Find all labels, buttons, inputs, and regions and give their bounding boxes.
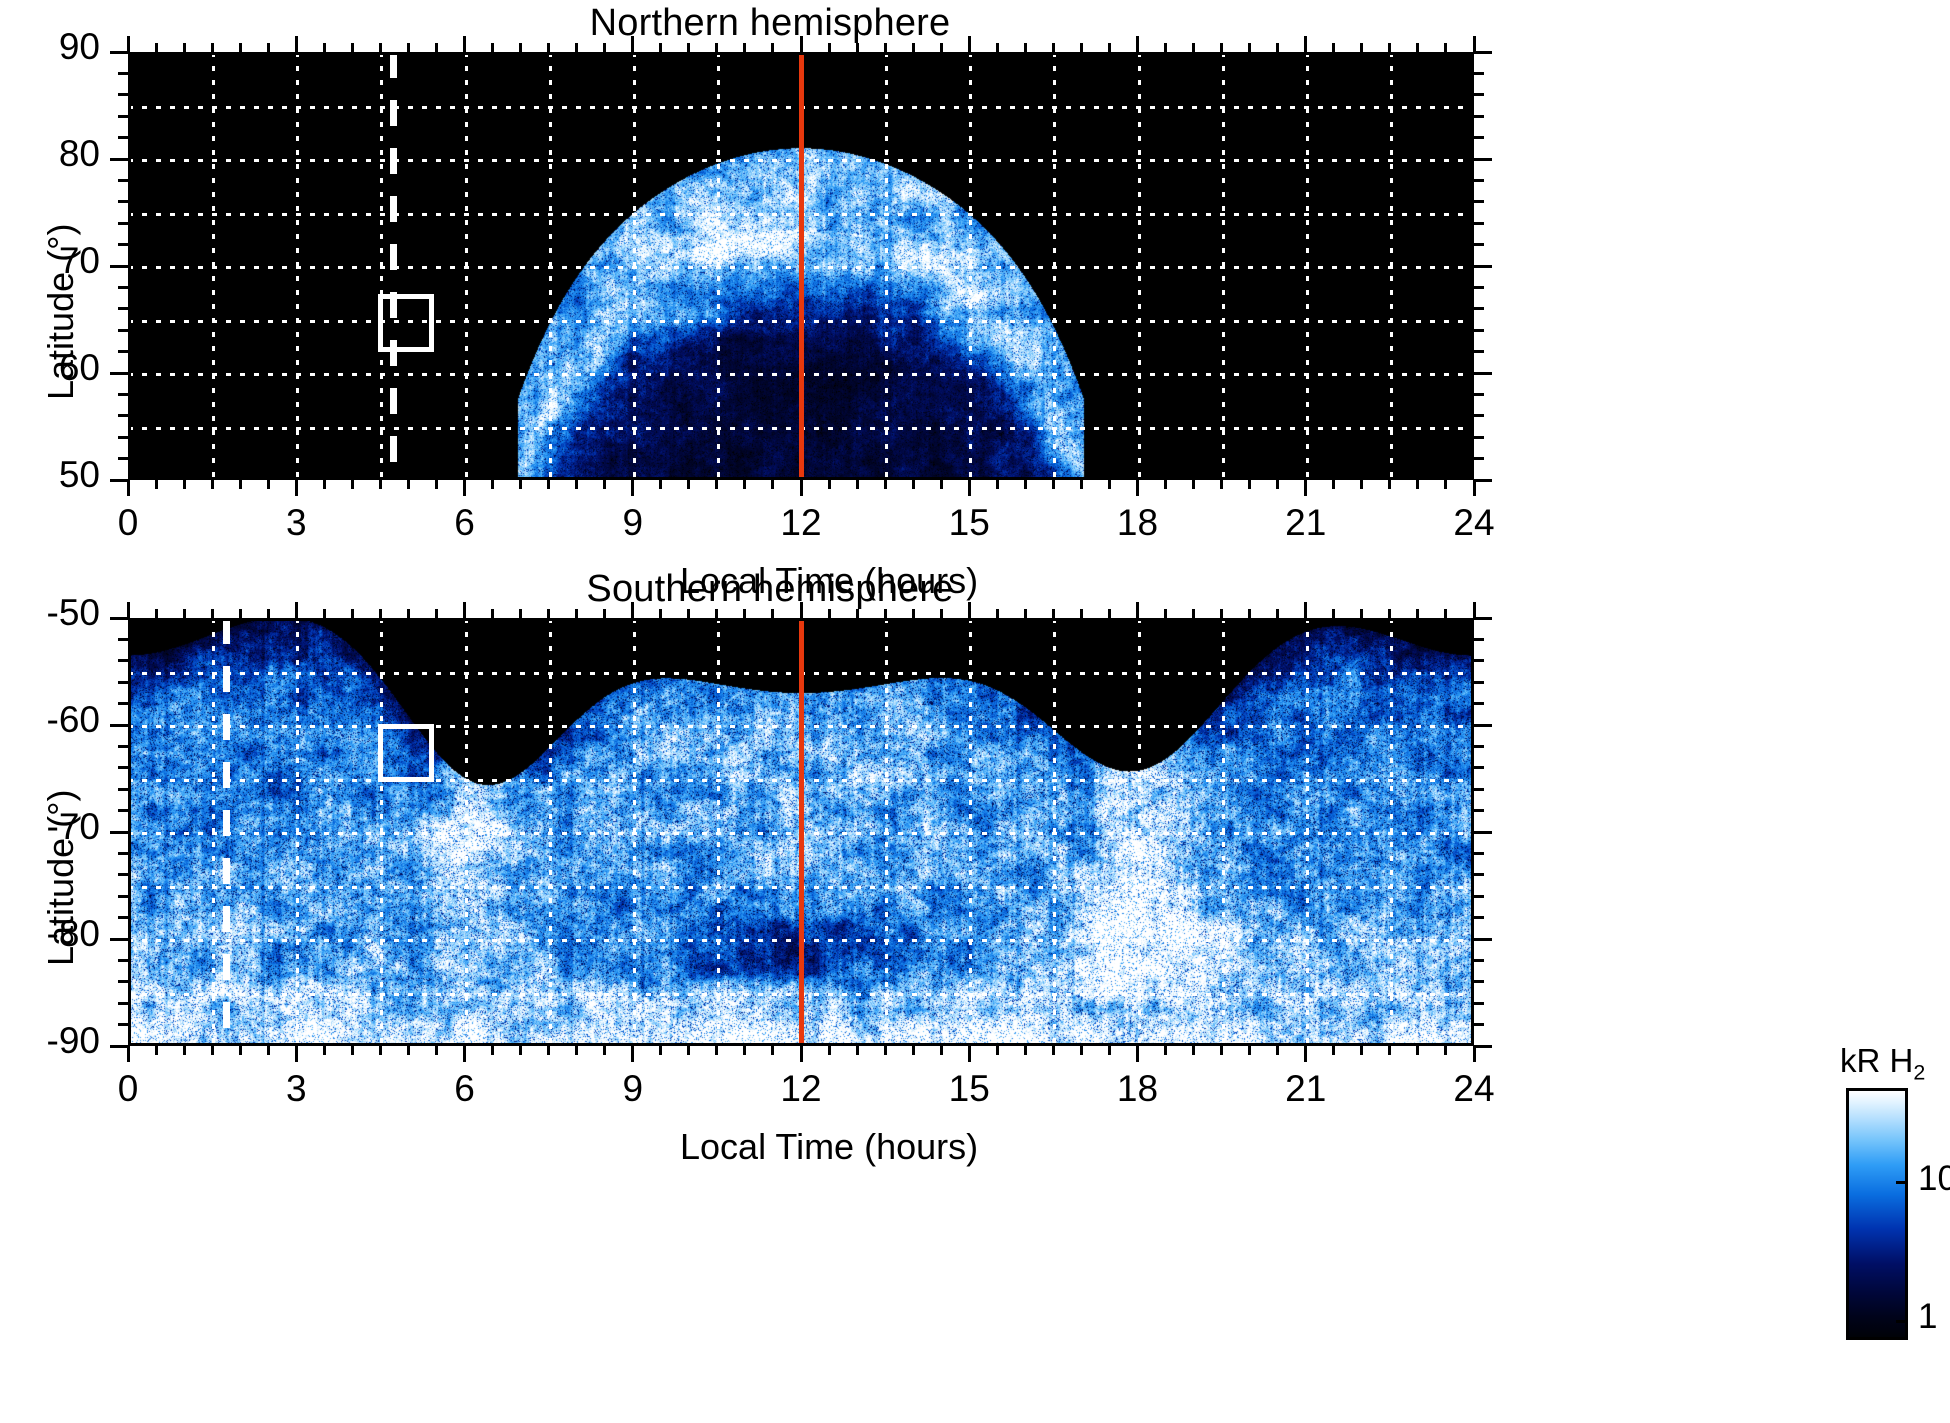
x-tick-label: 15 — [941, 1068, 997, 1110]
y-tick-label: -80 — [0, 913, 100, 955]
x-major-tick — [800, 1046, 803, 1062]
x-major-tick-top — [1136, 602, 1139, 618]
y-major-tick — [110, 372, 128, 375]
x-minor-tick-top — [715, 43, 718, 52]
x-major-tick-top — [1304, 602, 1307, 618]
x-minor-tick-top — [1220, 43, 1223, 52]
x-minor-tick-top — [1332, 43, 1335, 52]
x-minor-tick — [1276, 480, 1279, 489]
x-minor-tick-top — [884, 43, 887, 52]
y-minor-tick — [118, 659, 128, 662]
y-minor-tick-right — [1474, 436, 1484, 439]
y-minor-tick — [118, 200, 128, 203]
y-major-tick-right — [1474, 831, 1492, 834]
y-minor-tick — [118, 350, 128, 353]
y-minor-tick-right — [1474, 809, 1484, 812]
x-minor-tick-top — [267, 43, 270, 52]
y-minor-tick-right — [1474, 852, 1484, 855]
x-minor-tick-top — [155, 609, 158, 618]
y-minor-tick — [118, 1023, 128, 1026]
x-minor-tick-top — [912, 609, 915, 618]
x-minor-tick-top — [996, 609, 999, 618]
x-minor-tick — [351, 1046, 354, 1055]
y-minor-tick — [118, 788, 128, 791]
x-minor-tick-top — [659, 43, 662, 52]
y-minor-tick-right — [1474, 959, 1484, 962]
x-minor-tick — [435, 480, 438, 489]
y-minor-tick — [118, 745, 128, 748]
x-minor-tick-top — [1192, 43, 1195, 52]
x-minor-tick-top — [603, 609, 606, 618]
x-minor-tick-top — [743, 43, 746, 52]
y-minor-tick — [118, 136, 128, 139]
x-minor-tick — [1444, 1046, 1447, 1055]
x-major-tick — [1473, 1046, 1476, 1062]
x-major-tick — [463, 480, 466, 496]
x-major-tick — [127, 1046, 130, 1062]
y-tick-label: 60 — [0, 347, 100, 389]
x-minor-tick-top — [1388, 43, 1391, 52]
x-minor-tick — [575, 480, 578, 489]
y-minor-tick-right — [1474, 788, 1484, 791]
y-major-tick-right — [1474, 265, 1492, 268]
x-minor-tick-top — [1080, 43, 1083, 52]
y-minor-tick — [118, 414, 128, 417]
x-tick-label: 9 — [605, 502, 661, 544]
y-tick-label: -50 — [0, 592, 100, 634]
x-minor-tick — [828, 480, 831, 489]
x-minor-tick-top — [856, 43, 859, 52]
northern-panel-title: Northern hemisphere — [420, 2, 1120, 45]
x-tick-label: 15 — [941, 502, 997, 544]
x-major-tick-top — [295, 36, 298, 52]
x-minor-tick — [183, 1046, 186, 1055]
x-minor-tick-top — [771, 43, 774, 52]
x-minor-tick — [547, 1046, 550, 1055]
y-minor-tick-right — [1474, 329, 1484, 332]
x-minor-tick-top — [547, 609, 550, 618]
x-minor-tick — [856, 1046, 859, 1055]
x-major-tick — [631, 480, 634, 496]
x-minor-tick — [267, 1046, 270, 1055]
y-minor-tick — [118, 959, 128, 962]
x-minor-tick — [1388, 1046, 1391, 1055]
x-minor-tick — [1052, 480, 1055, 489]
x-major-tick-top — [463, 36, 466, 52]
x-minor-tick-top — [1444, 43, 1447, 52]
x-tick-label: 3 — [268, 502, 324, 544]
y-minor-tick-right — [1474, 702, 1484, 705]
x-major-tick — [800, 480, 803, 496]
x-minor-tick — [996, 1046, 999, 1055]
roi-box — [378, 294, 434, 352]
x-minor-tick — [1192, 480, 1195, 489]
y-minor-tick — [118, 809, 128, 812]
x-minor-tick-top — [1416, 43, 1419, 52]
x-minor-tick — [323, 1046, 326, 1055]
x-minor-tick-top — [323, 43, 326, 52]
y-major-tick-right — [1474, 1045, 1492, 1048]
x-minor-tick-top — [856, 609, 859, 618]
x-minor-tick-top — [1024, 609, 1027, 618]
y-minor-tick-right — [1474, 136, 1484, 139]
x-major-tick-top — [968, 602, 971, 618]
colorbar-label-subscript: 2 — [1913, 1061, 1925, 1085]
x-minor-tick — [1164, 1046, 1167, 1055]
colorbar-tick-label: 10 — [1918, 1159, 1950, 1199]
x-minor-tick — [1080, 1046, 1083, 1055]
noon-meridian-line — [799, 52, 804, 480]
x-tick-label: 6 — [437, 1068, 493, 1110]
y-major-tick-right — [1474, 724, 1492, 727]
y-minor-tick-right — [1474, 200, 1484, 203]
y-minor-tick-right — [1474, 393, 1484, 396]
x-minor-tick-top — [940, 609, 943, 618]
x-minor-tick — [379, 1046, 382, 1055]
y-major-tick — [110, 265, 128, 268]
x-minor-tick-top — [715, 609, 718, 618]
x-tick-label: 18 — [1110, 502, 1166, 544]
x-minor-tick — [715, 1046, 718, 1055]
figure-root: Northern hemisphere Local Time (hours) L… — [0, 0, 1950, 1423]
roi-box — [378, 724, 434, 782]
x-minor-tick — [575, 1046, 578, 1055]
x-minor-tick — [1444, 480, 1447, 489]
x-minor-tick — [996, 480, 999, 489]
x-minor-tick — [407, 480, 410, 489]
x-minor-tick — [1248, 1046, 1251, 1055]
y-minor-tick-right — [1474, 681, 1484, 684]
x-major-tick-top — [968, 36, 971, 52]
x-minor-tick-top — [547, 43, 550, 52]
x-minor-tick-top — [267, 609, 270, 618]
y-tick-label: -70 — [0, 806, 100, 848]
x-minor-tick — [1220, 480, 1223, 489]
y-major-tick — [110, 51, 128, 54]
x-minor-tick — [211, 480, 214, 489]
y-major-tick — [110, 724, 128, 727]
x-minor-tick — [940, 480, 943, 489]
x-major-tick — [968, 1046, 971, 1062]
x-minor-tick — [1332, 1046, 1335, 1055]
x-minor-tick — [743, 480, 746, 489]
x-major-tick — [1473, 480, 1476, 496]
colorbar-tick — [1896, 1320, 1908, 1323]
x-tick-label: 3 — [268, 1068, 324, 1110]
x-minor-tick-top — [1444, 609, 1447, 618]
y-minor-tick — [118, 286, 128, 289]
x-minor-tick — [519, 1046, 522, 1055]
y-minor-tick — [118, 980, 128, 983]
x-minor-tick-top — [1108, 43, 1111, 52]
y-minor-tick-right — [1474, 1002, 1484, 1005]
x-major-tick-top — [1136, 36, 1139, 52]
observation-time-dashed-line — [390, 52, 397, 480]
x-minor-tick-top — [1388, 609, 1391, 618]
colorbar-tick — [1896, 1181, 1908, 1184]
y-minor-tick — [118, 457, 128, 460]
x-minor-tick — [1248, 480, 1251, 489]
y-minor-tick — [118, 307, 128, 310]
x-minor-tick-top — [1052, 609, 1055, 618]
y-minor-tick — [118, 702, 128, 705]
y-minor-tick — [118, 436, 128, 439]
x-minor-tick-top — [323, 609, 326, 618]
x-minor-tick — [884, 1046, 887, 1055]
x-major-tick — [127, 480, 130, 496]
southern-xaxis-label: Local Time (hours) — [680, 1126, 978, 1168]
x-minor-tick-top — [1164, 609, 1167, 618]
y-tick-label: 70 — [0, 240, 100, 282]
x-minor-tick-top — [519, 609, 522, 618]
y-minor-tick — [118, 222, 128, 225]
y-major-tick-right — [1474, 617, 1492, 620]
x-minor-tick-top — [603, 43, 606, 52]
x-major-tick — [968, 480, 971, 496]
y-minor-tick — [118, 393, 128, 396]
y-minor-tick-right — [1474, 873, 1484, 876]
y-minor-tick — [118, 93, 128, 96]
x-minor-tick — [771, 1046, 774, 1055]
x-minor-tick — [1388, 480, 1391, 489]
x-major-tick — [463, 1046, 466, 1062]
southern-panel-title: Southern hemisphere — [420, 568, 1120, 611]
y-minor-tick — [118, 72, 128, 75]
x-minor-tick — [267, 480, 270, 489]
southern-heatmap — [128, 618, 1474, 1046]
y-minor-tick-right — [1474, 414, 1484, 417]
y-tick-label: 90 — [0, 26, 100, 68]
x-minor-tick — [1052, 1046, 1055, 1055]
y-major-tick — [110, 1045, 128, 1048]
colorbar-label-text: kR H — [1840, 1042, 1913, 1079]
x-minor-tick-top — [912, 43, 915, 52]
y-minor-tick — [118, 115, 128, 118]
x-tick-label: 12 — [773, 1068, 829, 1110]
x-minor-tick — [940, 1046, 943, 1055]
x-minor-tick — [211, 1046, 214, 1055]
y-minor-tick-right — [1474, 307, 1484, 310]
y-minor-tick-right — [1474, 222, 1484, 225]
x-major-tick-top — [631, 36, 634, 52]
x-minor-tick-top — [407, 43, 410, 52]
x-minor-tick-top — [407, 609, 410, 618]
y-minor-tick-right — [1474, 179, 1484, 182]
x-minor-tick — [771, 480, 774, 489]
x-minor-tick-top — [1024, 43, 1027, 52]
x-minor-tick-top — [687, 43, 690, 52]
x-minor-tick — [547, 480, 550, 489]
x-minor-tick-top — [1164, 43, 1167, 52]
x-minor-tick-top — [239, 609, 242, 618]
x-minor-tick — [1332, 480, 1335, 489]
x-minor-tick — [1108, 1046, 1111, 1055]
x-minor-tick — [1360, 480, 1363, 489]
x-minor-tick — [659, 1046, 662, 1055]
x-minor-tick — [912, 480, 915, 489]
x-minor-tick — [687, 1046, 690, 1055]
y-minor-tick — [118, 766, 128, 769]
x-minor-tick-top — [1192, 609, 1195, 618]
x-minor-tick-top — [1416, 609, 1419, 618]
colorbar-label: kR H2 — [1840, 1042, 1925, 1086]
x-minor-tick-top — [1360, 609, 1363, 618]
y-minor-tick — [118, 916, 128, 919]
x-minor-tick — [715, 480, 718, 489]
y-minor-tick — [118, 243, 128, 246]
y-major-tick — [110, 938, 128, 941]
y-major-tick-right — [1474, 51, 1492, 54]
x-minor-tick-top — [435, 43, 438, 52]
x-minor-tick — [1024, 1046, 1027, 1055]
x-minor-tick-top — [1220, 609, 1223, 618]
y-minor-tick — [118, 329, 128, 332]
x-minor-tick-top — [1052, 43, 1055, 52]
colorbar-tick-label: 1 — [1918, 1297, 1937, 1337]
x-major-tick-top — [631, 602, 634, 618]
x-minor-tick-top — [1248, 609, 1251, 618]
x-minor-tick — [491, 1046, 494, 1055]
x-minor-tick-top — [828, 43, 831, 52]
x-minor-tick-top — [575, 43, 578, 52]
x-tick-label: 24 — [1446, 1068, 1502, 1110]
x-minor-tick — [912, 1046, 915, 1055]
x-minor-tick — [323, 480, 326, 489]
x-minor-tick — [183, 480, 186, 489]
x-minor-tick — [155, 1046, 158, 1055]
x-major-tick — [295, 480, 298, 496]
y-major-tick — [110, 831, 128, 834]
y-minor-tick — [118, 1002, 128, 1005]
x-minor-tick-top — [351, 609, 354, 618]
x-minor-tick — [1080, 480, 1083, 489]
y-minor-tick-right — [1474, 766, 1484, 769]
x-minor-tick-top — [1332, 609, 1335, 618]
x-minor-tick-top — [1360, 43, 1363, 52]
x-minor-tick-top — [743, 609, 746, 618]
y-minor-tick-right — [1474, 745, 1484, 748]
x-minor-tick-top — [828, 609, 831, 618]
x-major-tick — [295, 1046, 298, 1062]
x-minor-tick — [351, 480, 354, 489]
x-minor-tick-top — [379, 609, 382, 618]
x-major-tick — [1304, 1046, 1307, 1062]
y-minor-tick-right — [1474, 243, 1484, 246]
x-minor-tick-top — [1108, 609, 1111, 618]
x-tick-label: 24 — [1446, 502, 1502, 544]
x-major-tick-top — [463, 602, 466, 618]
x-minor-tick — [743, 1046, 746, 1055]
y-tick-label: -60 — [0, 699, 100, 741]
x-minor-tick — [1108, 480, 1111, 489]
x-minor-tick-top — [155, 43, 158, 52]
x-minor-tick — [379, 480, 382, 489]
x-minor-tick-top — [211, 43, 214, 52]
y-minor-tick-right — [1474, 895, 1484, 898]
x-minor-tick-top — [1080, 609, 1083, 618]
x-tick-label: 21 — [1278, 1068, 1334, 1110]
x-tick-label: 6 — [437, 502, 493, 544]
x-minor-tick-top — [1276, 609, 1279, 618]
x-minor-tick — [1024, 480, 1027, 489]
x-major-tick — [1136, 480, 1139, 496]
x-minor-tick — [491, 480, 494, 489]
x-major-tick-top — [295, 602, 298, 618]
x-tick-label: 12 — [773, 502, 829, 544]
y-minor-tick — [118, 873, 128, 876]
y-major-tick-right — [1474, 479, 1492, 482]
x-minor-tick — [1416, 1046, 1419, 1055]
x-tick-label: 0 — [100, 502, 156, 544]
northern-heatmap — [128, 52, 1474, 480]
y-minor-tick-right — [1474, 286, 1484, 289]
observation-time-dashed-line — [223, 618, 230, 1046]
y-major-tick — [110, 158, 128, 161]
y-minor-tick-right — [1474, 457, 1484, 460]
x-tick-label: 18 — [1110, 1068, 1166, 1110]
x-minor-tick-top — [379, 43, 382, 52]
x-minor-tick-top — [1248, 43, 1251, 52]
y-minor-tick — [118, 638, 128, 641]
y-major-tick — [110, 479, 128, 482]
x-minor-tick — [1360, 1046, 1363, 1055]
x-minor-tick-top — [351, 43, 354, 52]
x-minor-tick-top — [940, 43, 943, 52]
y-major-tick — [110, 617, 128, 620]
x-minor-tick-top — [659, 609, 662, 618]
x-major-tick — [1304, 480, 1307, 496]
y-minor-tick — [118, 681, 128, 684]
x-minor-tick — [155, 480, 158, 489]
x-minor-tick-top — [211, 609, 214, 618]
x-minor-tick-top — [771, 609, 774, 618]
y-minor-tick-right — [1474, 659, 1484, 662]
y-tick-label: 50 — [0, 454, 100, 496]
x-minor-tick — [603, 1046, 606, 1055]
x-minor-tick — [603, 480, 606, 489]
y-minor-tick-right — [1474, 93, 1484, 96]
colorbar — [1846, 1088, 1908, 1340]
x-minor-tick — [407, 1046, 410, 1055]
y-minor-tick-right — [1474, 980, 1484, 983]
y-tick-label: -90 — [0, 1020, 100, 1062]
x-minor-tick — [884, 480, 887, 489]
x-minor-tick — [435, 1046, 438, 1055]
x-minor-tick-top — [491, 43, 494, 52]
x-minor-tick-top — [519, 43, 522, 52]
x-minor-tick — [1276, 1046, 1279, 1055]
x-tick-label: 21 — [1278, 502, 1334, 544]
x-major-tick-top — [800, 36, 803, 52]
x-minor-tick-top — [183, 43, 186, 52]
y-major-tick-right — [1474, 372, 1492, 375]
x-minor-tick-top — [884, 609, 887, 618]
x-minor-tick-top — [687, 609, 690, 618]
x-minor-tick-top — [1276, 43, 1279, 52]
x-major-tick-top — [800, 602, 803, 618]
x-minor-tick — [687, 480, 690, 489]
noon-meridian-line — [799, 618, 804, 1046]
y-major-tick-right — [1474, 938, 1492, 941]
y-minor-tick-right — [1474, 638, 1484, 641]
x-minor-tick — [1192, 1046, 1195, 1055]
x-minor-tick — [1416, 480, 1419, 489]
x-minor-tick — [519, 480, 522, 489]
y-major-tick-right — [1474, 158, 1492, 161]
x-minor-tick — [239, 1046, 242, 1055]
x-major-tick — [1136, 1046, 1139, 1062]
x-minor-tick — [828, 1046, 831, 1055]
